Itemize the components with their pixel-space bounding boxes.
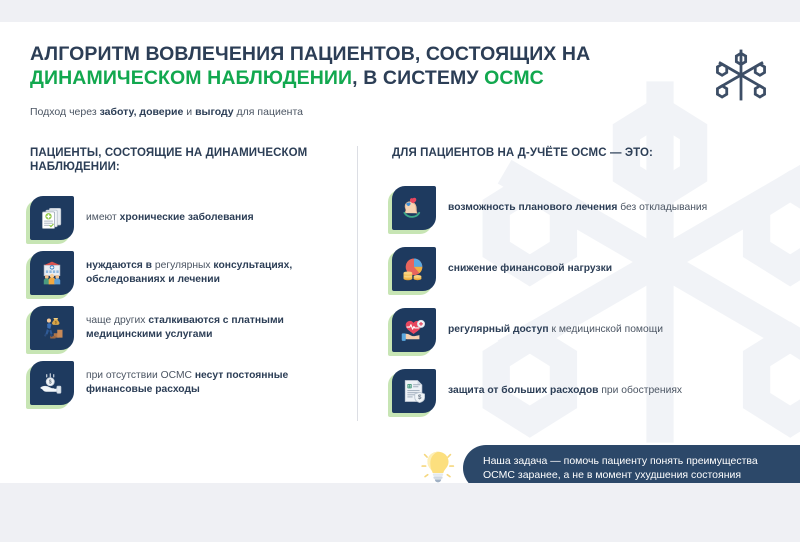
text-bold: снижение финансовой нагрузки bbox=[448, 263, 612, 274]
left-column-list: имеют хронические заболевания bbox=[30, 194, 340, 406]
text-plain: без откладывания bbox=[617, 202, 707, 213]
page-title-mid: , В СИСТЕМУ bbox=[352, 67, 484, 89]
list-item: снижение финансовой нагрузки bbox=[392, 245, 764, 292]
right-column-heading: ДЛЯ ПАЦИЕНТОВ НА Д-УЧЁТЕ ОСМС — ЭТО: bbox=[392, 146, 764, 160]
snowflake-logo-icon bbox=[710, 44, 772, 106]
list-item-label: чаще других сталкиваются с платными меди… bbox=[86, 314, 340, 341]
page-title-highlight-1: ДИНАМИЧЕСКОМ НАБЛЮДЕНИИ bbox=[30, 67, 352, 89]
icon-tile bbox=[392, 308, 436, 352]
list-item: имеют хронические заболевания bbox=[30, 194, 340, 241]
svg-text:$: $ bbox=[418, 394, 422, 401]
subtitle-part-3: и bbox=[183, 106, 195, 118]
lightbulb-icon bbox=[415, 445, 461, 483]
left-column-heading: ПАЦИЕНТЫ, СОСТОЯЩИЕ НА ДИНАМИЧЕСКОМ НАБЛ… bbox=[30, 146, 340, 174]
callout-bar: Наша задача — помочь пациенту понять пре… bbox=[463, 445, 800, 483]
list-item-label: возможность планового лечения без отклад… bbox=[448, 201, 711, 215]
icon-tile bbox=[392, 186, 436, 230]
page-title-line-2: ДИНАМИЧЕСКОМ НАБЛЮДЕНИИ, В СИСТЕМУ ОСМС bbox=[30, 66, 670, 90]
callout: Наша задача — помочь пациенту понять пре… bbox=[415, 445, 800, 483]
icon-tile bbox=[392, 247, 436, 291]
list-item: нуждаются в регулярных консультациях, об… bbox=[30, 249, 340, 296]
pie-chart-coins-icon bbox=[392, 247, 436, 291]
slide-card: АЛГОРИТМ ВОВЛЕЧЕНИЯ ПАЦИЕНТОВ, СОСТОЯЩИХ… bbox=[0, 22, 800, 483]
medical-documents-icon bbox=[30, 196, 74, 240]
page-title-line-1: АЛГОРИТМ ВОВЛЕЧЕНИЯ ПАЦИЕНТОВ, СОСТОЯЩИХ… bbox=[30, 42, 670, 66]
header: АЛГОРИТМ ВОВЛЕЧЕНИЯ ПАЦИЕНТОВ, СОСТОЯЩИХ… bbox=[30, 42, 670, 119]
right-column: ДЛЯ ПАЦИЕНТОВ НА Д-УЧЁТЕ ОСМС — ЭТО: bbox=[392, 146, 764, 414]
hand-heart-pulse-icon bbox=[392, 308, 436, 352]
text-bold: хронические заболевания bbox=[120, 212, 254, 223]
list-item: $ чаще других сталкиваются с платными ме… bbox=[30, 304, 340, 351]
list-item: $ защита от больших расходов при обостре… bbox=[392, 367, 764, 414]
column-divider bbox=[357, 146, 358, 421]
icon-tile: $ bbox=[392, 369, 436, 413]
list-item-label: защита от больших расходов при обострени… bbox=[448, 384, 686, 398]
text-plain: имеют bbox=[86, 212, 120, 223]
text-plain: при отсутствии ОСМС bbox=[86, 370, 195, 381]
money-bag-stairs-icon: $ bbox=[30, 306, 74, 350]
icon-tile: $ bbox=[30, 306, 74, 350]
subtitle-part-1: Подход через bbox=[30, 106, 100, 118]
document-shield-icon: $ bbox=[392, 369, 436, 413]
list-item: регулярный доступ к медицинской помощи bbox=[392, 306, 764, 353]
text-bold: нуждаются в bbox=[86, 260, 155, 271]
subtitle-part-5: для пациента bbox=[234, 106, 303, 118]
slide-canvas: АЛГОРИТМ ВОВЛЕЧЕНИЯ ПАЦИЕНТОВ, СОСТОЯЩИХ… bbox=[0, 0, 800, 542]
hospital-people-icon bbox=[30, 251, 74, 295]
page-subtitle: Подход через заботу, доверие и выгоду дл… bbox=[30, 105, 670, 119]
left-column: ПАЦИЕНТЫ, СОСТОЯЩИЕ НА ДИНАМИЧЕСКОМ НАБЛ… bbox=[30, 146, 340, 406]
right-column-list: возможность планового лечения без отклад… bbox=[392, 184, 764, 414]
subtitle-part-4: выгоду bbox=[195, 106, 234, 118]
text-plain: регулярных bbox=[155, 260, 214, 271]
list-item-label: при отсутствии ОСМС несут постоянные фин… bbox=[86, 369, 340, 396]
list-item-label: нуждаются в регулярных консультациях, об… bbox=[86, 259, 340, 286]
callout-text: Наша задача — помочь пациенту понять пре… bbox=[483, 454, 758, 483]
list-item-label: снижение финансовой нагрузки bbox=[448, 262, 616, 276]
text-bold: регулярный доступ bbox=[448, 324, 549, 335]
text-plain: к медицинской помощи bbox=[549, 324, 663, 335]
hand-coin-icon: $ bbox=[30, 361, 74, 405]
icon-tile: $ bbox=[30, 361, 74, 405]
list-item-label: регулярный доступ к медицинской помощи bbox=[448, 323, 667, 337]
page-title-highlight-2: ОСМС bbox=[484, 67, 544, 89]
text-plain: чаще других bbox=[86, 315, 148, 326]
svg-text:$: $ bbox=[49, 379, 52, 385]
list-item: $ при отсутствии ОСМС несут постоянные ф… bbox=[30, 359, 340, 406]
icon-tile bbox=[30, 196, 74, 240]
text-plain: при обострениях bbox=[598, 385, 682, 396]
text-bold: возможность планового лечения bbox=[448, 202, 617, 213]
text-bold: защита от больших расходов bbox=[448, 385, 598, 396]
head-hearts-care-icon bbox=[392, 186, 436, 230]
subtitle-part-2: заботу, доверие bbox=[100, 106, 184, 118]
list-item: возможность планового лечения без отклад… bbox=[392, 184, 764, 231]
list-item-label: имеют хронические заболевания bbox=[86, 211, 258, 225]
icon-tile bbox=[30, 251, 74, 295]
